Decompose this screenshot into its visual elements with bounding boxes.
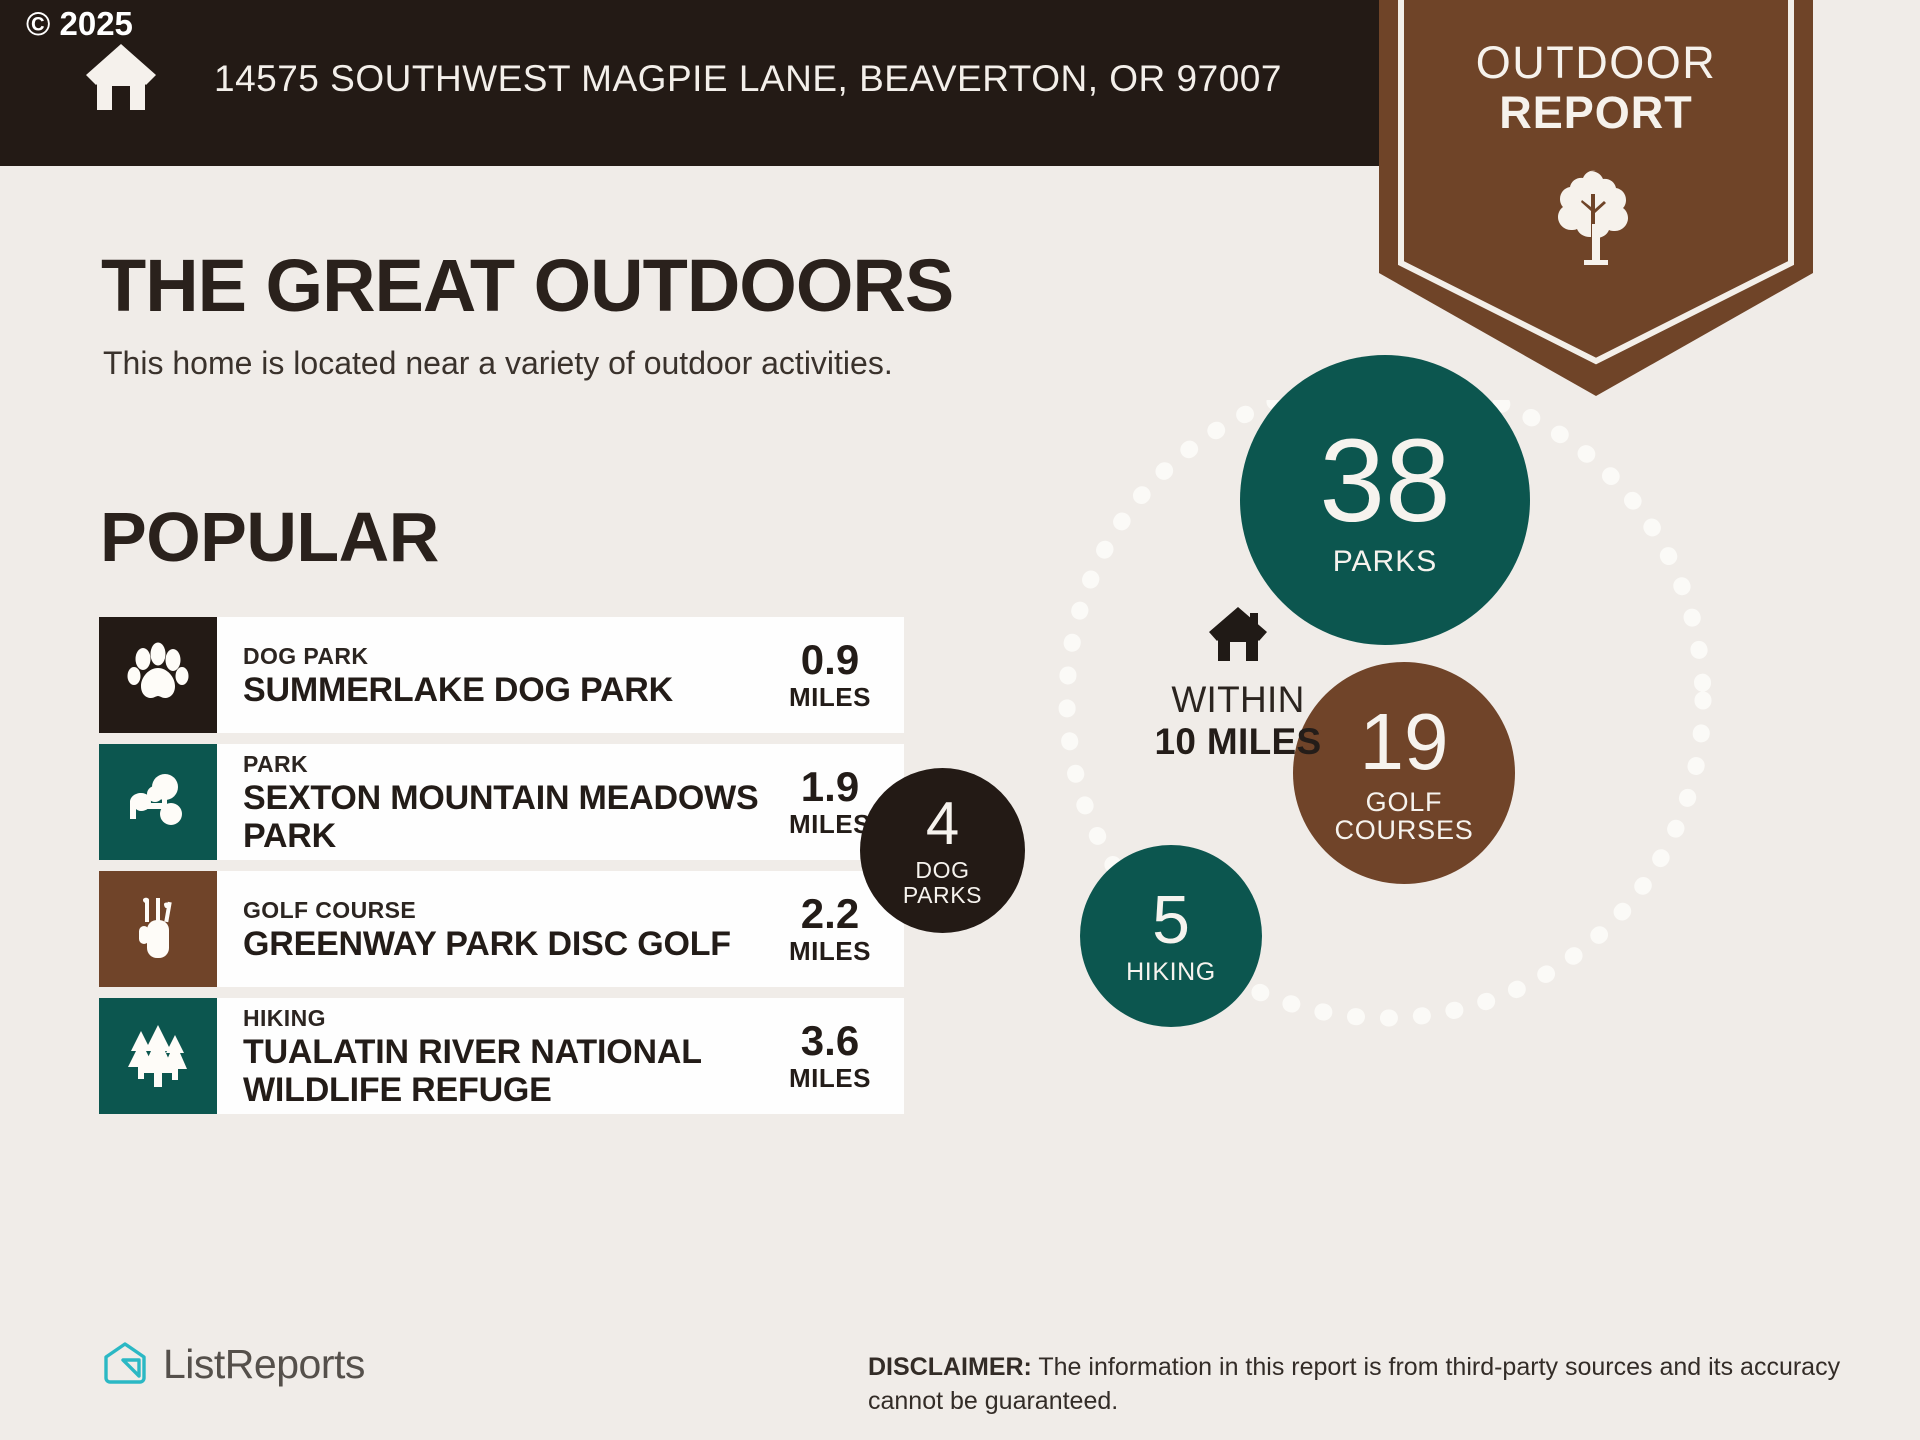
chart-center-label: WITHIN 10 MILES [1128, 605, 1348, 763]
golf-bag-icon [125, 896, 191, 962]
list-item-tile [99, 871, 217, 987]
list-item[interactable]: DOG PARK SUMMERLAKE DOG PARK 0.9 MILES [99, 617, 904, 733]
list-item-text: DOG PARK SUMMERLAKE DOG PARK [243, 642, 768, 709]
popular-list: DOG PARK SUMMERLAKE DOG PARK 0.9 MILES [99, 617, 904, 1125]
list-item-body: PARK SEXTON MOUNTAIN MEADOWS PARK 1.9 MI… [217, 744, 904, 860]
bubble-golf-value: 19 [1360, 702, 1449, 782]
disclaimer: DISCLAIMER: The information in this repo… [868, 1350, 1858, 1418]
list-item[interactable]: HIKING TUALATIN RIVER NATIONAL WILDLIFE … [99, 998, 904, 1114]
list-item-category: HIKING [243, 1004, 768, 1033]
bubble-parks: 38 PARKS [1240, 355, 1530, 645]
page-subtitle: This home is located near a variety of o… [103, 345, 893, 382]
outdoor-report-badge: OUTDOOR REPORT [1379, 0, 1813, 396]
listreports-house-tag-icon [101, 1340, 149, 1388]
bubble-dog-value: 4 [926, 794, 959, 854]
badge-title-line2: REPORT [1379, 88, 1813, 138]
distance-unit: MILES [768, 936, 892, 966]
page-header: © 2025 14575 SOUTHWEST MAGPIE LANE, BEAV… [0, 0, 1388, 166]
bubble-golf-label-line2: COURSES [1334, 816, 1473, 844]
badge-title-line1: OUTDOOR [1379, 38, 1813, 88]
list-item-name: SUMMERLAKE DOG PARK [243, 671, 768, 709]
home-icon [1207, 605, 1269, 663]
page-title: THE GREAT OUTDOORS [101, 243, 953, 328]
park-trees-icon [125, 769, 191, 835]
list-item[interactable]: GOLF COURSE GREENWAY PARK DISC GOLF 2.2 … [99, 871, 904, 987]
list-item-distance: 3.6 MILES [768, 1019, 900, 1093]
property-address: 14575 SOUTHWEST MAGPIE LANE, BEAVERTON, … [214, 58, 1282, 100]
disclaimer-label: DISCLAIMER: [868, 1353, 1032, 1381]
list-item-body: GOLF COURSE GREENWAY PARK DISC GOLF 2.2 … [217, 871, 904, 987]
bubble-hiking-value: 5 [1152, 886, 1190, 954]
listreports-logo-text: ListReports [163, 1341, 365, 1388]
distance-value: 1.9 [768, 765, 892, 809]
distance-value: 2.2 [768, 892, 892, 936]
list-item-name: GREENWAY PARK DISC GOLF [243, 925, 768, 963]
paw-icon [125, 642, 191, 708]
within-10-miles-bubble-chart: 38 PARKS 19 GOLF COURSES 4 DOG PARKS 5 H… [1000, 400, 1860, 1230]
list-item-tile [99, 744, 217, 860]
list-item-text: PARK SEXTON MOUNTAIN MEADOWS PARK [243, 750, 768, 855]
list-item-body: HIKING TUALATIN RIVER NATIONAL WILDLIFE … [217, 998, 904, 1114]
list-item-tile [99, 998, 217, 1114]
popular-heading: POPULAR [100, 497, 439, 577]
list-item-category: GOLF COURSE [243, 896, 768, 925]
list-item-body: DOG PARK SUMMERLAKE DOG PARK 0.9 MILES [217, 617, 904, 733]
chart-center-line1: WITHIN [1128, 679, 1348, 721]
copyright-watermark: © 2025 [26, 4, 133, 44]
bubble-hiking-label: HIKING [1126, 959, 1216, 985]
listreports-logo[interactable]: ListReports [101, 1340, 365, 1388]
distance-unit: MILES [768, 682, 892, 712]
list-item-distance: 0.9 MILES [768, 638, 900, 712]
distance-value: 0.9 [768, 638, 892, 682]
list-item-name: SEXTON MOUNTAIN MEADOWS PARK [243, 779, 768, 855]
badge-title: OUTDOOR REPORT [1379, 38, 1813, 138]
tree-icon [1557, 168, 1635, 266]
list-item-tile [99, 617, 217, 733]
bubble-hiking: 5 HIKING [1080, 845, 1262, 1027]
list-item[interactable]: PARK SEXTON MOUNTAIN MEADOWS PARK 1.9 MI… [99, 744, 904, 860]
bubble-dog-label-line1: DOG [915, 858, 969, 882]
pine-trees-icon [125, 1023, 191, 1089]
distance-unit: MILES [768, 1063, 892, 1093]
bubble-parks-value: 38 [1319, 422, 1450, 540]
list-item-text: HIKING TUALATIN RIVER NATIONAL WILDLIFE … [243, 1004, 768, 1109]
bubble-dog-label-line2: PARKS [903, 883, 982, 907]
bubble-golf-label-line1: GOLF [1366, 788, 1443, 816]
list-item-text: GOLF COURSE GREENWAY PARK DISC GOLF [243, 896, 768, 963]
list-item-category: DOG PARK [243, 642, 768, 671]
bubble-dog-parks: 4 DOG PARKS [860, 768, 1025, 933]
home-icon [84, 42, 158, 112]
outdoor-report-page: © 2025 14575 SOUTHWEST MAGPIE LANE, BEAV… [0, 0, 1920, 1440]
chart-center-line2: 10 MILES [1128, 721, 1348, 763]
list-item-category: PARK [243, 750, 768, 779]
list-item-name: TUALATIN RIVER NATIONAL WILDLIFE REFUGE [243, 1033, 768, 1109]
bubble-parks-label: PARKS [1333, 546, 1437, 578]
distance-value: 3.6 [768, 1019, 892, 1063]
